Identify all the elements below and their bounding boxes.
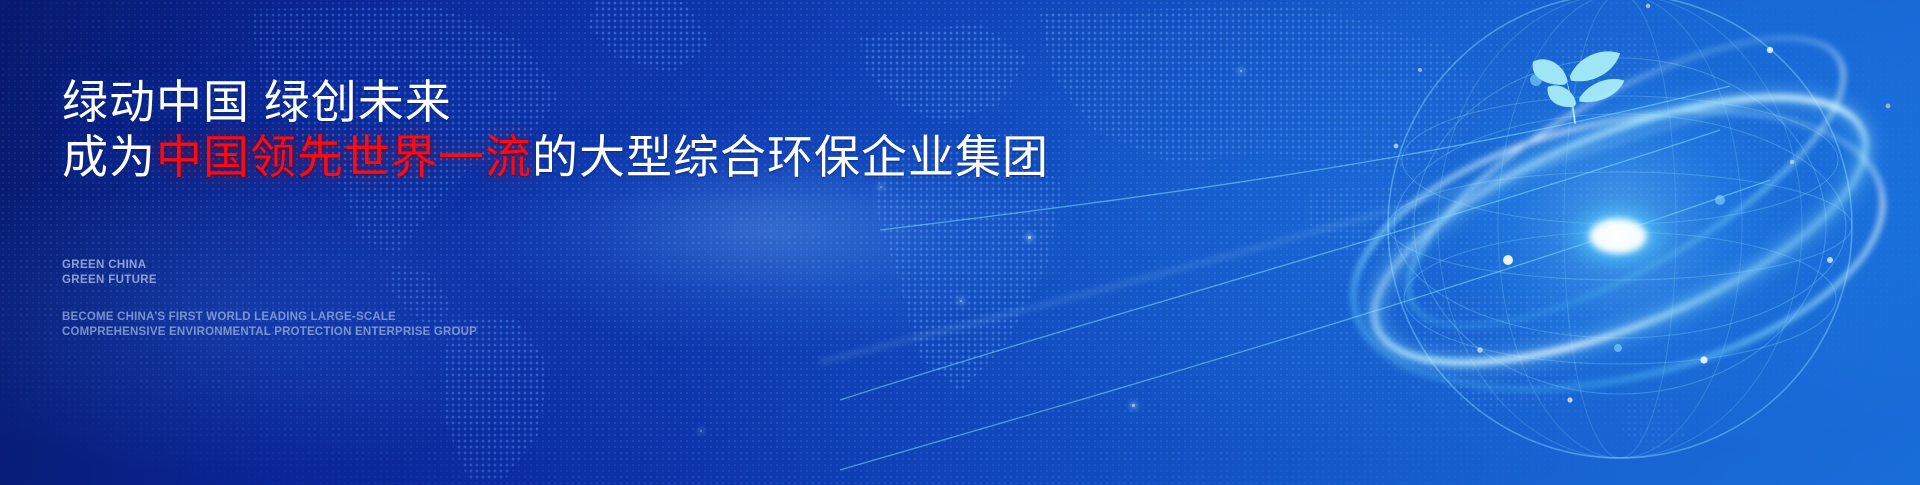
globe-graphic <box>1300 0 1920 485</box>
tagline: GREEN CHINA GREEN FUTURE <box>62 258 157 287</box>
hero-banner: 绿动中国 绿创未来 成为中国领先世界一流的大型综合环保企业集团 GREEN CH… <box>0 0 1920 485</box>
subtext-line-2: COMPREHENSIVE ENVIRONMENTAL PROTECTION E… <box>62 325 477 340</box>
headline: 绿动中国 绿创未来 成为中国领先世界一流的大型综合环保企业集团 <box>62 75 1049 185</box>
headline-line-2-prefix: 成为 <box>62 131 156 183</box>
sprout-icon <box>1533 51 1625 123</box>
headline-line-2-suffix: 的大型综合环保企业集团 <box>532 131 1049 183</box>
subtext: BECOME CHINA'S FIRST WORLD LEADING LARGE… <box>62 310 477 339</box>
subtext-line-1: BECOME CHINA'S FIRST WORLD LEADING LARGE… <box>62 310 477 325</box>
headline-highlight: 中国领先世界一流 <box>156 131 532 183</box>
tagline-line-1: GREEN CHINA <box>62 258 157 273</box>
banner-text-block: 绿动中国 绿创未来 成为中国领先世界一流的大型综合环保企业集团 GREEN CH… <box>62 0 1062 485</box>
headline-line-2: 成为中国领先世界一流的大型综合环保企业集团 <box>62 130 1049 185</box>
tagline-line-2: GREEN FUTURE <box>62 273 157 288</box>
headline-line-1: 绿动中国 绿创未来 <box>62 75 1049 130</box>
